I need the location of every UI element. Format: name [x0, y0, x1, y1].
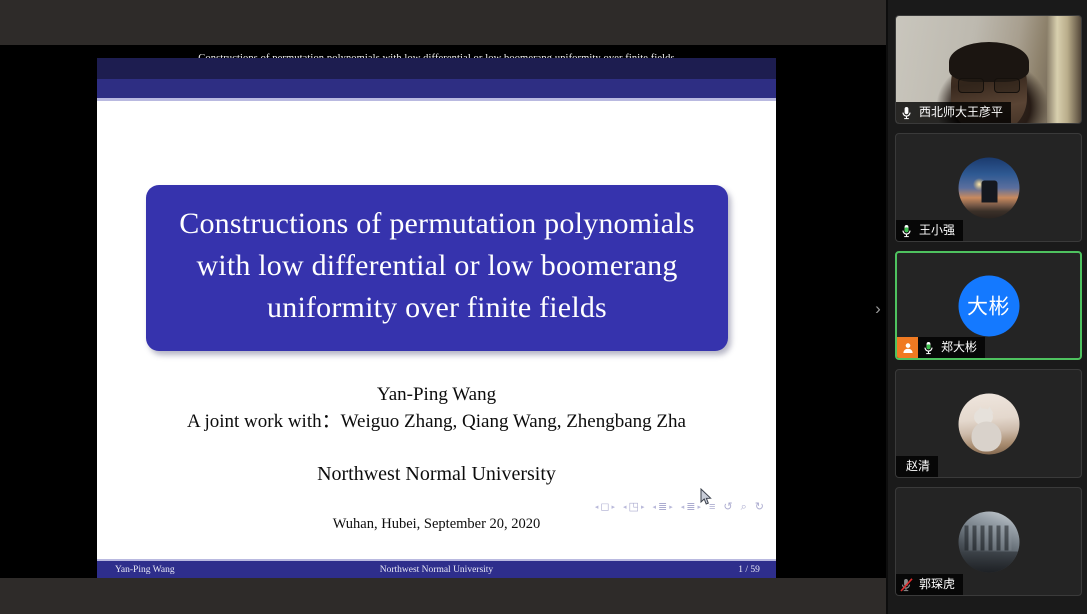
participant-name: 西北师大王彦平 [917, 102, 1003, 123]
slide-title-box: Constructions of permutation polynomials… [146, 185, 728, 351]
microphone-icon [896, 102, 917, 123]
slide-body: Constructions of permutation polynomials… [97, 101, 776, 535]
participant-nameplate: 郭琛虎 [896, 574, 963, 595]
nav-frame-icon[interactable]: ◳ [629, 502, 639, 513]
nav-document-icon[interactable]: ≡ [709, 502, 715, 513]
nav-search-icon[interactable]: ⌕ [741, 502, 747, 513]
nav-slide-prev-arrow[interactable]: ◂ [595, 504, 599, 511]
beamer-navigation-symbols[interactable]: ◂ ◻ ▸ ◂ ◳ ▸ ◂ ≣ ▸ ◂ [595, 502, 764, 513]
beamer-slide: Constructions of permutation polynomials… [97, 58, 776, 578]
shared-screen-stage: Constructions of permutation polynomials… [0, 45, 886, 578]
slide-header-bar-mid [97, 79, 776, 98]
avatar [958, 157, 1019, 218]
cat-body [972, 421, 1002, 451]
participant-filmstrip: 西北师大王彦平 王小强 [886, 0, 1087, 614]
webcam-background-wall [1047, 16, 1081, 123]
nav-subsection-prev-arrow[interactable]: ◂ [652, 504, 656, 511]
nav-slide-group[interactable]: ◂ ◻ ▸ [595, 502, 615, 513]
venue-and-date: Wuhan, Hubei, September 20, 2020 [97, 513, 776, 535]
nav-subsection-next-arrow[interactable]: ▸ [669, 504, 673, 511]
avatar: 大彬 [958, 275, 1019, 336]
avatar [958, 393, 1019, 454]
microphone-icon [918, 337, 939, 358]
nav-back-icon[interactable]: ↺ [723, 502, 732, 513]
host-person-icon [897, 337, 918, 358]
participant-tile[interactable]: 赵清 [895, 369, 1082, 478]
nav-slide-next-arrow[interactable]: ▸ [612, 504, 616, 511]
microphone-icon [896, 220, 917, 241]
nav-frame-next-arrow[interactable]: ▸ [641, 504, 645, 511]
slide-title-line-2: with low differential or low boomerang [168, 245, 706, 287]
author-name: Yan-Ping Wang [97, 381, 776, 408]
zoom-screenshare-window: Constructions of permutation polynomials… [0, 0, 1087, 614]
participant-tile-active-speaker[interactable]: 大彬 [895, 251, 1082, 360]
footer-author: Yan-Ping Wang [97, 565, 323, 575]
chevron-right-icon[interactable]: › [870, 297, 886, 321]
nav-slide-icon[interactable]: ◻ [600, 502, 609, 513]
avatar [958, 511, 1019, 572]
nav-section-next-arrow[interactable]: ▸ [697, 504, 701, 511]
nav-subsection-group[interactable]: ◂ ≣ ▸ [652, 502, 672, 513]
nav-forward-icon[interactable]: ↻ [755, 502, 764, 513]
participant-name: 郭琛虎 [917, 574, 955, 595]
slide-footer-bar: Yan-Ping Wang Northwest Normal Universit… [97, 561, 776, 578]
webcam-hair [949, 42, 1029, 82]
participant-name: 赵清 [904, 456, 930, 477]
participant-nameplate: 赵清 [896, 456, 938, 477]
participant-nameplate: 王小强 [896, 220, 963, 241]
joint-work-line: A joint work with：Weiguo Zhang, Qiang Wa… [97, 408, 776, 435]
slide-title-line-1: Constructions of permutation polynomials [168, 203, 706, 245]
microphone-muted-icon [896, 574, 917, 595]
participant-tile[interactable]: 王小强 [895, 133, 1082, 242]
desktop-top-strip [0, 0, 886, 45]
nav-frame-group[interactable]: ◂ ◳ ▸ [623, 502, 644, 513]
webcam-glasses [958, 78, 1020, 91]
participant-name: 郑大彬 [939, 337, 977, 358]
nav-section-group[interactable]: ◂ ≣ ▸ [681, 502, 701, 513]
participant-name: 王小强 [917, 220, 955, 241]
participant-tile[interactable]: 郭琛虎 [895, 487, 1082, 596]
institution-name: Northwest Normal University [97, 461, 776, 488]
participant-tile[interactable]: 西北师大王彦平 [895, 15, 1082, 124]
footer-page-number: 1 / 59 [550, 565, 776, 575]
participant-nameplate: 西北师大王彦平 [896, 102, 1011, 123]
nav-subsection-icon[interactable]: ≣ [658, 502, 667, 513]
avatar-initials: 大彬 [958, 275, 1019, 336]
nav-section-icon[interactable]: ≣ [686, 502, 695, 513]
desktop-bottom-strip [0, 578, 886, 614]
nav-section-prev-arrow[interactable]: ◂ [681, 504, 685, 511]
slide-header-bar-dark [97, 58, 776, 79]
slide-title-line-3: uniformity over finite fields [168, 287, 706, 329]
participant-nameplate: 郑大彬 [897, 337, 985, 358]
nav-frame-prev-arrow[interactable]: ◂ [623, 504, 627, 511]
footer-institution: Northwest Normal University [323, 565, 549, 575]
